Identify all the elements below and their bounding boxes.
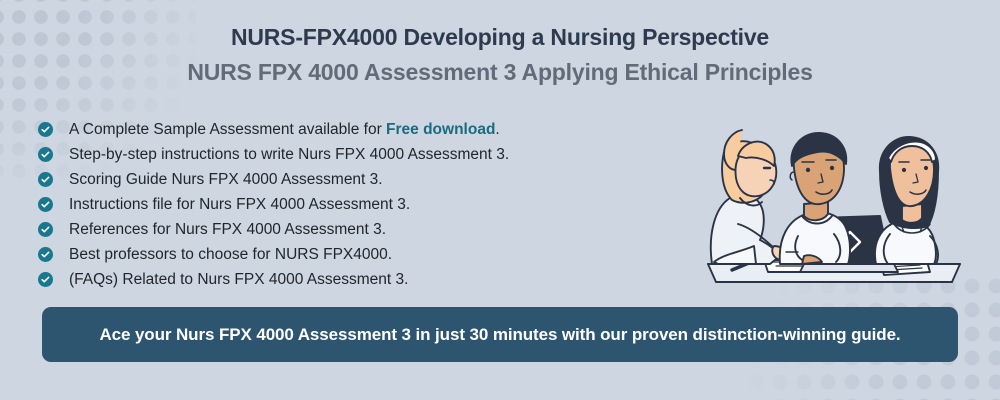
list-item-label: Instructions file for Nurs FPX 4000 Asse… [69, 196, 410, 214]
check-circle-icon [38, 147, 53, 162]
check-circle-icon [38, 272, 53, 287]
feature-list: A Complete Sample Assessment available f… [38, 117, 678, 292]
list-item: Scoring Guide Nurs FPX 4000 Assessment 3… [38, 167, 678, 192]
cta-banner[interactable]: Ace your Nurs FPX 4000 Assessment 3 in j… [42, 307, 958, 362]
list-item-label: Best professors to choose for NURS FPX40… [69, 246, 392, 264]
check-circle-icon [38, 197, 53, 212]
page-title-primary: NURS-FPX4000 Developing a Nursing Perspe… [0, 22, 1000, 52]
list-item-text: A Complete Sample Assessment available f… [69, 121, 386, 138]
list-item-label: A Complete Sample Assessment available f… [69, 121, 500, 139]
list-item: References for Nurs FPX 4000 Assessment … [38, 217, 678, 242]
list-item-label: Step-by-step instructions to write Nurs … [69, 146, 509, 164]
list-item-label: References for Nurs FPX 4000 Assessment … [69, 221, 386, 239]
check-circle-icon [38, 172, 53, 187]
list-item: Instructions file for Nurs FPX 4000 Asse… [38, 192, 678, 217]
list-item: Step-by-step instructions to write Nurs … [38, 142, 678, 167]
list-item: Best professors to choose for NURS FPX40… [38, 242, 678, 267]
check-circle-icon [38, 247, 53, 262]
promo-banner: NURS-FPX4000 Developing a Nursing Perspe… [0, 0, 1000, 400]
page-title-secondary: NURS FPX 4000 Assessment 3 Applying Ethi… [0, 56, 1000, 88]
three-students-at-laptop-illustration [694, 112, 974, 297]
cta-text: Ace your Nurs FPX 4000 Assessment 3 in j… [99, 324, 900, 346]
check-circle-icon [38, 122, 53, 137]
free-download-link[interactable]: Free download [386, 121, 495, 138]
check-circle-icon [38, 222, 53, 237]
list-item-label: (FAQs) Related to Nurs FPX 4000 Assessme… [69, 271, 408, 289]
title-block: NURS-FPX4000 Developing a Nursing Perspe… [0, 22, 1000, 88]
list-item: A Complete Sample Assessment available f… [38, 117, 678, 142]
list-item-label: Scoring Guide Nurs FPX 4000 Assessment 3… [69, 171, 383, 189]
list-item: (FAQs) Related to Nurs FPX 4000 Assessme… [38, 267, 678, 292]
list-item-text-suffix: . [495, 121, 499, 138]
